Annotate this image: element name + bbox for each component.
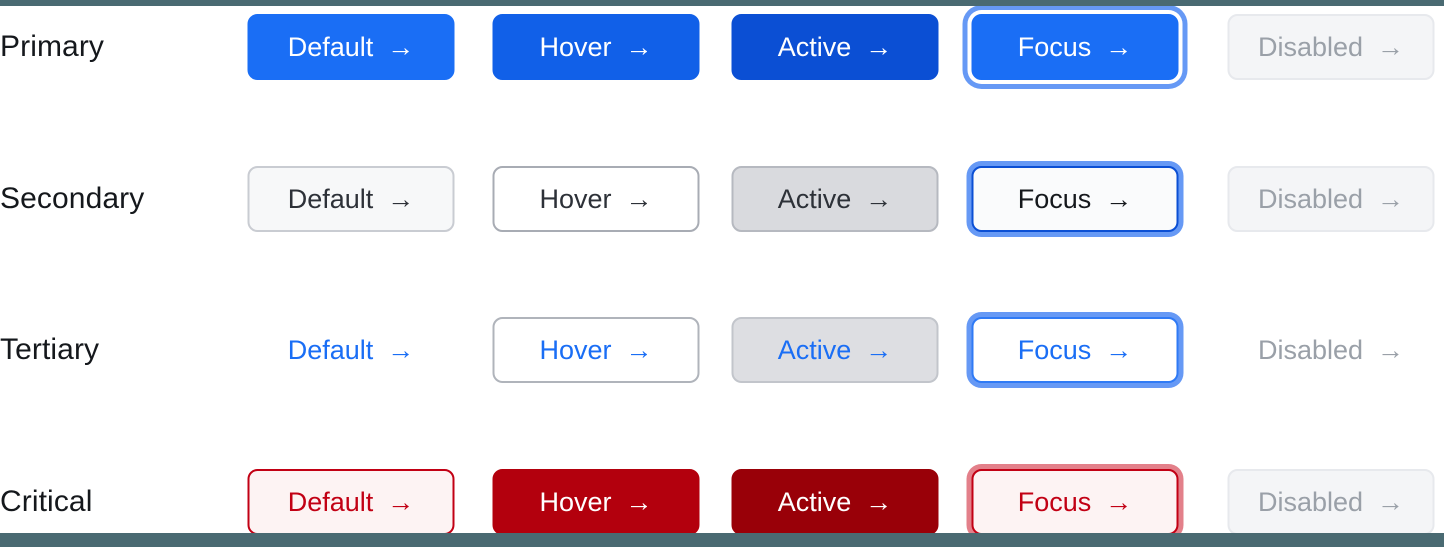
- cell-critical-focus: Focus→: [972, 469, 1179, 535]
- cell-primary-hover: Hover→: [493, 14, 700, 80]
- arrow-right-icon: →: [1377, 337, 1404, 364]
- button-tertiary-hover[interactable]: Hover→: [493, 317, 700, 383]
- button-primary-active[interactable]: Active→: [732, 14, 939, 80]
- button-secondary-disabled: Disabled→: [1228, 166, 1435, 232]
- button-primary-default[interactable]: Default→: [248, 14, 455, 80]
- button-label: Default: [288, 489, 374, 516]
- cell-critical-disabled: Disabled→: [1228, 469, 1435, 535]
- button-label: Hover: [539, 337, 611, 364]
- cell-tertiary-disabled: Disabled→: [1230, 317, 1432, 383]
- arrow-right-icon: →: [387, 489, 414, 516]
- arrow-right-icon: →: [1105, 489, 1132, 516]
- button-tertiary-active[interactable]: Active→: [732, 317, 939, 383]
- variant-label-secondary: Secondary: [0, 182, 144, 216]
- cell-tertiary-active: Active→: [732, 317, 939, 383]
- cell-secondary-hover: Hover→: [493, 166, 700, 232]
- button-label: Disabled: [1258, 186, 1363, 213]
- cell-primary-disabled: Disabled→: [1228, 14, 1435, 80]
- button-tertiary-default[interactable]: Default→: [260, 317, 443, 383]
- button-label: Focus: [1018, 337, 1092, 364]
- button-label: Focus: [1018, 186, 1092, 213]
- button-critical-focus[interactable]: Focus→: [972, 469, 1179, 535]
- button-critical-hover[interactable]: Hover→: [493, 469, 700, 535]
- arrow-right-icon: →: [626, 337, 653, 364]
- button-label: Default: [288, 337, 374, 364]
- cell-secondary-disabled: Disabled→: [1228, 166, 1435, 232]
- arrow-right-icon: →: [626, 186, 653, 213]
- cell-critical-default: Default→: [248, 469, 455, 535]
- button-primary-disabled: Disabled→: [1228, 14, 1435, 80]
- button-label: Focus: [1018, 489, 1092, 516]
- button-label: Default: [288, 186, 374, 213]
- button-critical-active[interactable]: Active→: [732, 469, 939, 535]
- button-tertiary-focus[interactable]: Focus→: [972, 317, 1179, 383]
- arrow-right-icon: →: [1377, 489, 1404, 516]
- arrow-right-icon: →: [1105, 186, 1132, 213]
- cell-critical-hover: Hover→: [493, 469, 700, 535]
- cell-primary-default: Default→: [248, 14, 455, 80]
- button-label: Default: [288, 34, 374, 61]
- cell-secondary-focus: Focus→: [972, 166, 1179, 232]
- arrow-right-icon: →: [626, 34, 653, 61]
- button-state-matrix-viewport: PrimaryDefault→Hover→Active→Focus→Disabl…: [0, 0, 1444, 547]
- arrow-right-icon: →: [387, 186, 414, 213]
- button-primary-focus[interactable]: Focus→: [972, 14, 1179, 80]
- button-label: Disabled: [1258, 489, 1363, 516]
- arrow-right-icon: →: [865, 34, 892, 61]
- button-secondary-active[interactable]: Active→: [732, 166, 939, 232]
- arrow-right-icon: →: [1377, 34, 1404, 61]
- button-primary-hover[interactable]: Hover→: [493, 14, 700, 80]
- button-label: Hover: [539, 34, 611, 61]
- button-secondary-default[interactable]: Default→: [248, 166, 455, 232]
- viewport-top-chrome-bar: [0, 0, 1444, 6]
- arrow-right-icon: →: [865, 186, 892, 213]
- arrow-right-icon: →: [387, 34, 414, 61]
- button-label: Disabled: [1258, 337, 1363, 364]
- cell-tertiary-hover: Hover→: [493, 317, 700, 383]
- button-tertiary-disabled: Disabled→: [1230, 317, 1432, 383]
- cell-secondary-active: Active→: [732, 166, 939, 232]
- button-label: Active: [778, 186, 852, 213]
- button-critical-disabled: Disabled→: [1228, 469, 1435, 535]
- button-critical-default[interactable]: Default→: [248, 469, 455, 535]
- button-secondary-focus[interactable]: Focus→: [972, 166, 1179, 232]
- arrow-right-icon: →: [865, 489, 892, 516]
- cell-tertiary-default: Default→: [260, 317, 443, 383]
- arrow-right-icon: →: [865, 337, 892, 364]
- button-secondary-hover[interactable]: Hover→: [493, 166, 700, 232]
- variant-label-tertiary: Tertiary: [0, 333, 99, 367]
- button-label: Hover: [539, 186, 611, 213]
- arrow-right-icon: →: [1377, 186, 1404, 213]
- cell-critical-active: Active→: [732, 469, 939, 535]
- cell-secondary-default: Default→: [248, 166, 455, 232]
- button-label: Active: [778, 489, 852, 516]
- button-label: Active: [778, 34, 852, 61]
- arrow-right-icon: →: [387, 337, 414, 364]
- cell-primary-focus: Focus→: [972, 14, 1179, 80]
- button-label: Active: [778, 337, 852, 364]
- variant-label-critical: Critical: [0, 485, 92, 519]
- arrow-right-icon: →: [1105, 337, 1132, 364]
- button-label: Disabled: [1258, 34, 1363, 61]
- viewport-bottom-chrome-bar: [0, 533, 1444, 547]
- button-label: Focus: [1018, 34, 1092, 61]
- cell-tertiary-focus: Focus→: [972, 317, 1179, 383]
- arrow-right-icon: →: [626, 489, 653, 516]
- variant-label-primary: Primary: [0, 30, 104, 64]
- arrow-right-icon: →: [1105, 34, 1132, 61]
- cell-primary-active: Active→: [732, 14, 939, 80]
- button-label: Hover: [539, 489, 611, 516]
